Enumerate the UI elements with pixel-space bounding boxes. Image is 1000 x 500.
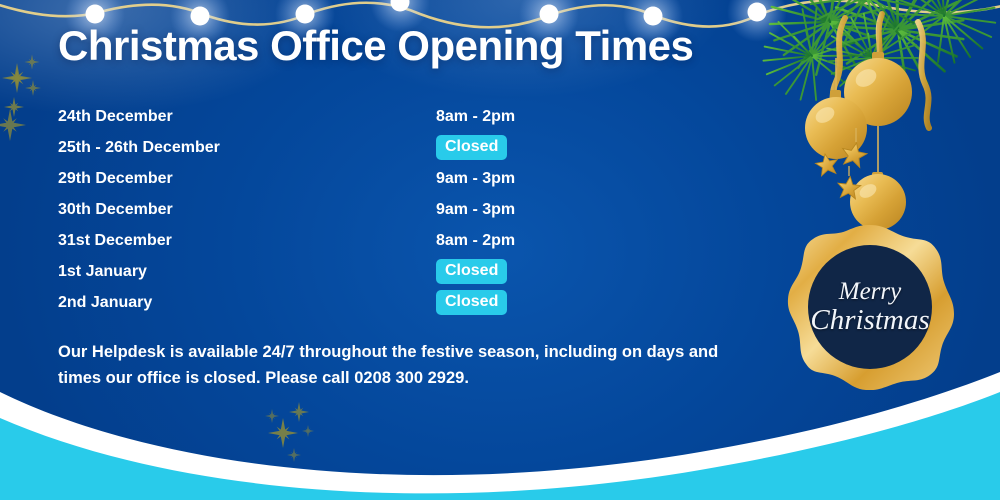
bottom-wave — [0, 0, 1000, 500]
christmas-opening-times-banner: Christmas Office Opening Times 24th Dece… — [0, 0, 1000, 500]
